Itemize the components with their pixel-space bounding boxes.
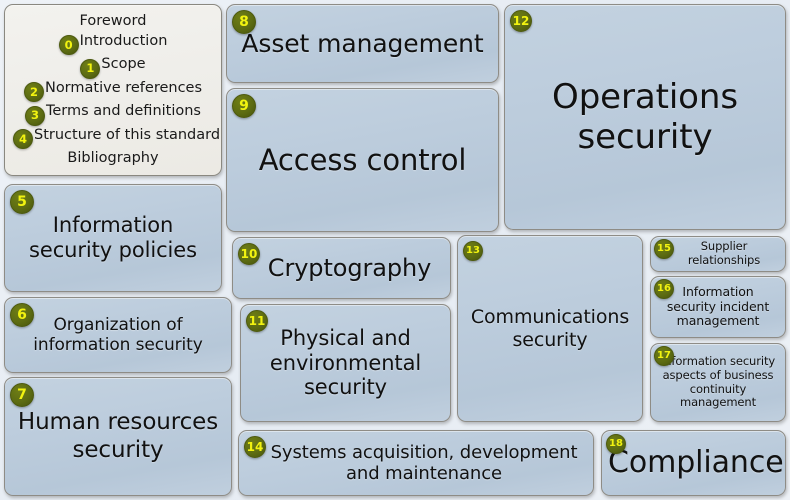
badge-3: 3 [25, 106, 45, 126]
clause-label-7: Human resources security [5, 409, 231, 463]
clause-box-12[interactable]: 12 Operations security [504, 4, 786, 230]
clause-badge-10: 10 [238, 243, 260, 265]
toc-label-scope: Scope [101, 56, 145, 72]
clause-box-13[interactable]: 13 Communications security [457, 235, 643, 422]
diagram-canvas: Foreword 0Introduction 1Scope 2Normative… [0, 0, 790, 500]
clause-badge-9: 9 [232, 94, 256, 118]
toc-row-foreword: Foreword [13, 12, 213, 31]
clause-box-18[interactable]: 18 Compliance [601, 430, 786, 496]
clause-badge-17: 17 [654, 346, 674, 366]
badge-1: 1 [80, 59, 100, 79]
clause-label-12: Operations security [505, 77, 785, 157]
badge-2: 2 [24, 82, 44, 102]
toc-label-terms-and-definitions: Terms and definitions [46, 103, 201, 119]
clause-badge-8: 8 [232, 10, 256, 34]
toc-row-normative-references: 2Normative references [13, 79, 213, 103]
clause-box-17[interactable]: 17 Information security aspects of busin… [650, 343, 786, 422]
clause-badge-11: 11 [246, 310, 268, 332]
toc-label-bibliography: Bibliography [67, 150, 158, 166]
toc-label-introduction: Introduction [80, 33, 168, 49]
clause-badge-16: 16 [654, 279, 674, 299]
clause-label-17: Information security aspects of business… [651, 355, 785, 409]
clause-box-8[interactable]: 8 Asset management [226, 4, 499, 83]
clause-badge-13: 13 [463, 241, 483, 261]
clause-label-11: Physical and environmental security [241, 326, 450, 400]
clause-label-18: Compliance [602, 445, 785, 480]
clause-label-6: Organization of information security [5, 315, 231, 355]
clause-badge-12: 12 [510, 10, 532, 32]
clause-box-11[interactable]: 11 Physical and environmental security [240, 304, 451, 422]
toc-row-introduction: 0Introduction [13, 32, 213, 56]
toc-label-foreword: Foreword [80, 13, 147, 29]
front-matter-list: Foreword 0Introduction 1Scope 2Normative… [5, 5, 221, 174]
toc-row-scope: 1Scope [13, 55, 213, 79]
toc-row-terms-and-definitions: 3Terms and definitions [13, 102, 213, 126]
clause-box-9[interactable]: 9 Access control [226, 88, 499, 232]
clause-box-16[interactable]: 16 Information security incident managem… [650, 276, 786, 338]
clause-box-6[interactable]: 6 Organization of information security [4, 297, 232, 373]
clause-box-5[interactable]: 5 Information security policies [4, 184, 222, 292]
clause-badge-15: 15 [654, 239, 674, 259]
clause-box-15[interactable]: 15 Supplier relationships [650, 236, 786, 272]
clause-label-8: Asset management [227, 29, 498, 59]
clause-badge-7: 7 [10, 383, 34, 407]
clause-box-7[interactable]: 7 Human resources security [4, 377, 232, 496]
clause-label-9: Access control [227, 143, 498, 177]
front-matter-box[interactable]: Foreword 0Introduction 1Scope 2Normative… [4, 4, 222, 176]
clause-box-10[interactable]: 10 Cryptography [232, 237, 451, 299]
clause-label-14: Systems acquisition, development and mai… [239, 442, 593, 484]
clause-label-10: Cryptography [233, 254, 450, 282]
clause-badge-18: 18 [606, 434, 626, 454]
clause-badge-6: 6 [10, 303, 34, 327]
toc-label-normative-references: Normative references [45, 80, 202, 96]
clause-label-5: Information security policies [5, 213, 221, 263]
toc-row-bibliography: Bibliography [13, 149, 213, 168]
clause-box-14[interactable]: 14 Systems acquisition, development and … [238, 430, 594, 496]
clause-badge-14: 14 [244, 436, 266, 458]
toc-label-structure-of-this-standard: Structure of this standard [34, 127, 220, 143]
badge-4: 4 [13, 129, 33, 149]
clause-label-13: Communications security [458, 306, 642, 351]
toc-row-structure-of-this-standard: 4Structure of this standard [13, 126, 213, 150]
clause-badge-5: 5 [10, 190, 34, 214]
badge-0: 0 [59, 35, 79, 55]
